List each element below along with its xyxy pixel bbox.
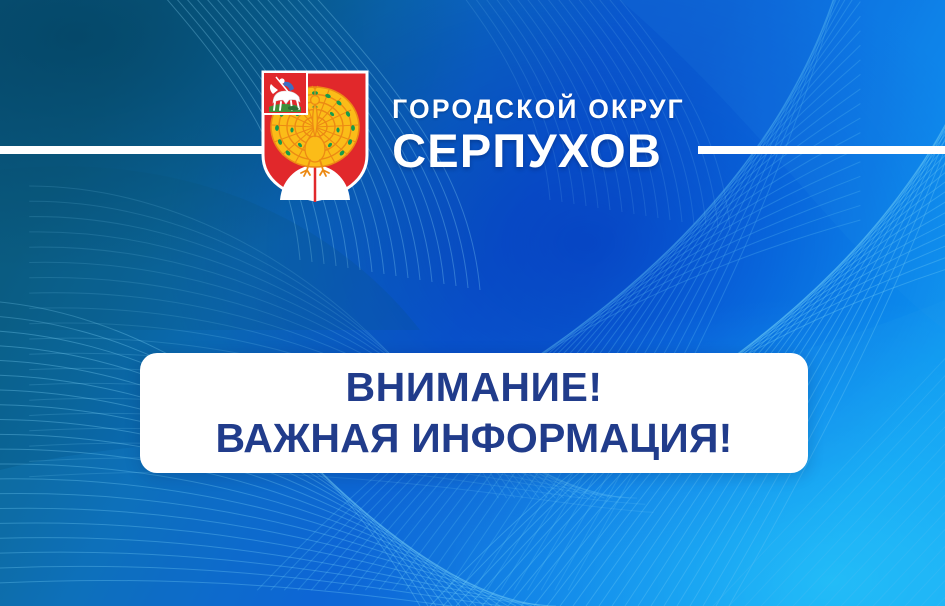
serpukhov-coat-of-arms-icon [260,69,370,202]
announcement-poster: ГОРОДСКОЙ ОКРУГ СЕРПУХОВ ВНИМАНИЕ! ВАЖНА… [0,0,945,606]
municipality-type-label: ГОРОДСКОЙ ОКРУГ [392,95,685,123]
poster-header: ГОРОДСКОЙ ОКРУГ СЕРПУХОВ [0,60,945,210]
announcement-headline: ВНИМАНИЕ! [345,366,602,409]
municipality-name-label: СЕРПУХОВ [392,126,685,176]
announcement-banner: ВНИМАНИЕ! ВАЖНАЯ ИНФОРМАЦИЯ! [140,353,808,473]
header-titles: ГОРОДСКОЙ ОКРУГ СЕРПУХОВ [392,95,685,176]
moscow-oblast-canton [263,72,307,114]
announcement-subheadline: ВАЖНАЯ ИНФОРМАЦИЯ! [216,417,733,460]
